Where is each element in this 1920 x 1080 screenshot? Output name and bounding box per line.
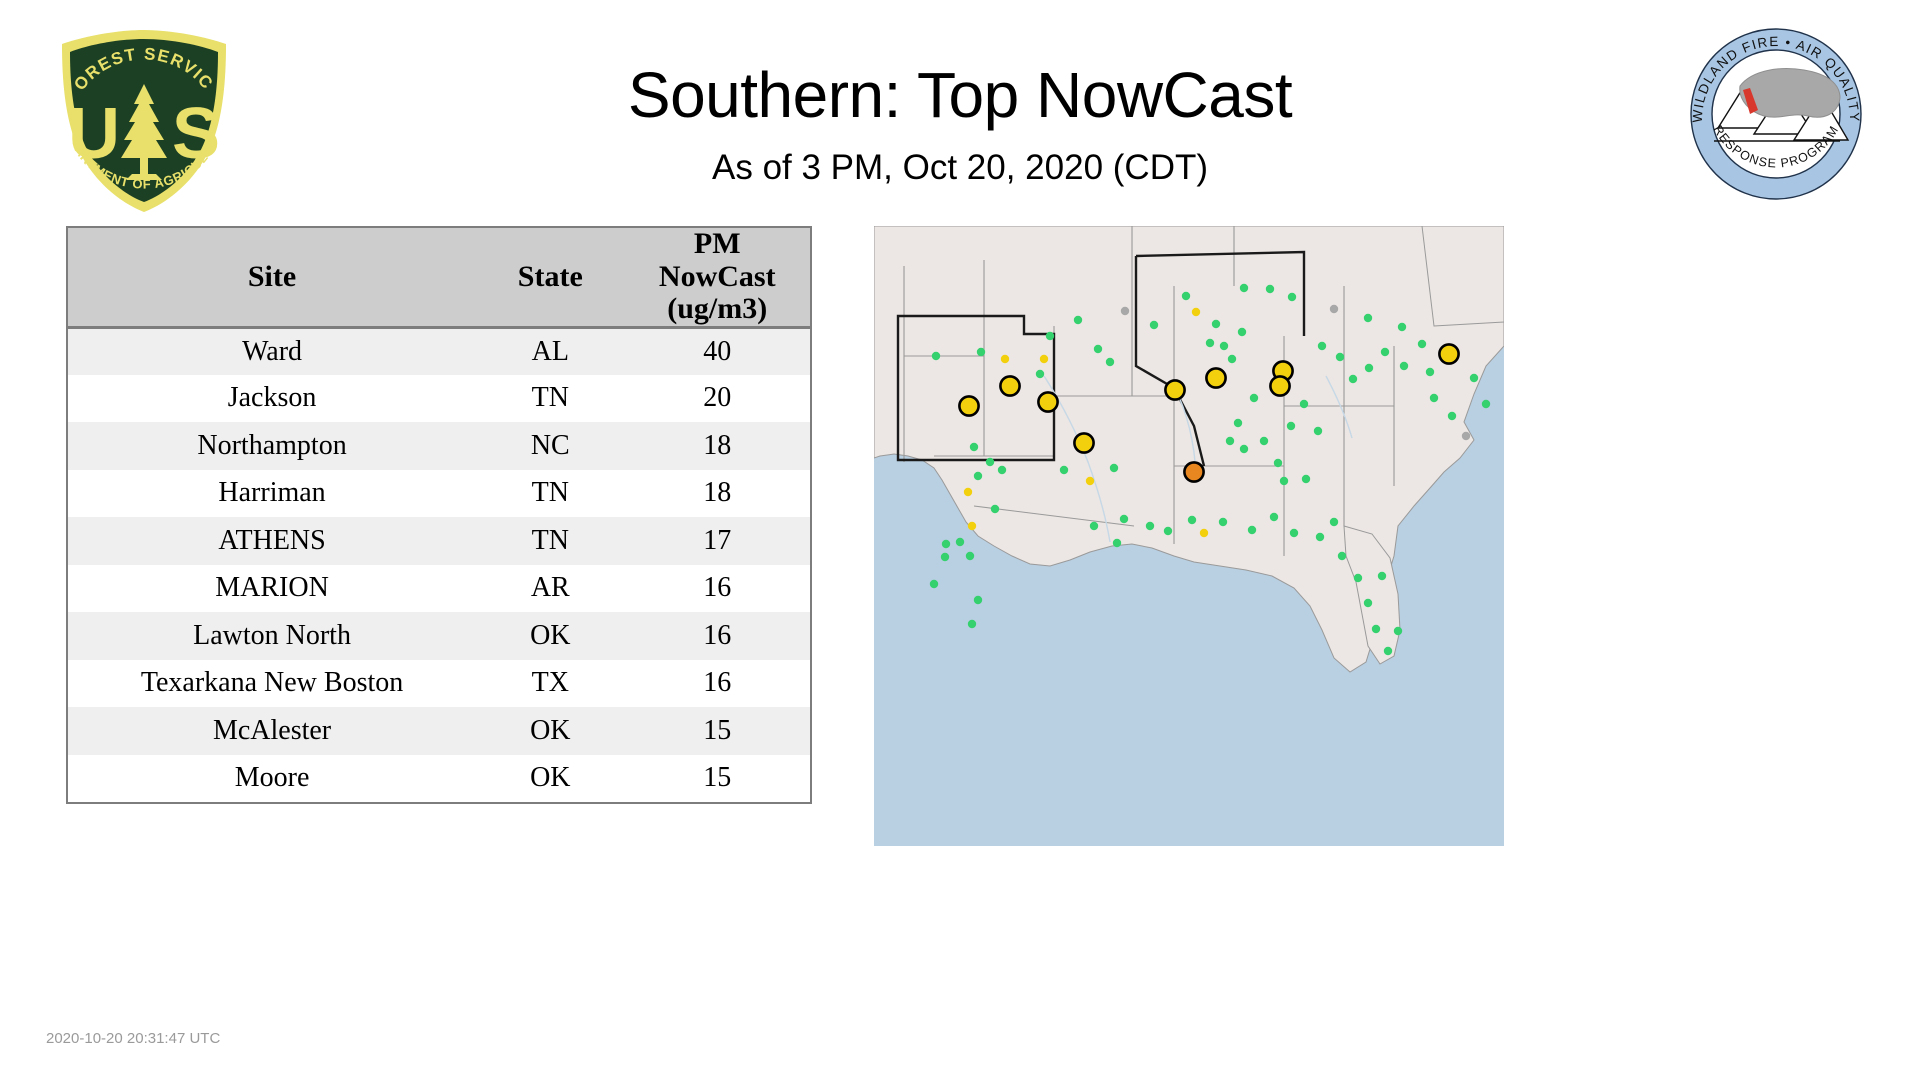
monitor-marker-small[interactable]: [968, 522, 976, 530]
column-header-pm-line1: PM: [624, 228, 810, 260]
monitor-marker-small[interactable]: [1248, 526, 1256, 534]
monitor-marker-small[interactable]: [1300, 400, 1308, 408]
monitor-marker-small[interactable]: [1430, 394, 1438, 402]
monitor-marker-top-site[interactable]: [1206, 368, 1225, 387]
monitor-marker-small[interactable]: [1086, 477, 1094, 485]
monitor-marker-small[interactable]: [1384, 647, 1392, 655]
monitor-marker-small[interactable]: [1364, 599, 1372, 607]
monitor-marker-small[interactable]: [1336, 353, 1344, 361]
monitor-marker-small[interactable]: [1212, 320, 1220, 328]
monitor-marker-small[interactable]: [970, 443, 978, 451]
monitor-marker-small[interactable]: [1182, 292, 1190, 300]
monitor-marker-small[interactable]: [1094, 345, 1102, 353]
monitor-marker-small[interactable]: [1418, 340, 1426, 348]
cell-site: Texarkana New Boston: [68, 660, 476, 708]
monitor-marker-small[interactable]: [1219, 518, 1227, 526]
monitor-marker-small[interactable]: [956, 538, 964, 546]
monitor-marker-top-site[interactable]: [959, 396, 978, 415]
monitor-marker-small[interactable]: [1378, 572, 1386, 580]
southern-region-air-quality-map[interactable]: Air Quality Index HazardousVery Unhealth…: [874, 226, 1504, 846]
monitor-marker-small[interactable]: [1150, 321, 1158, 329]
page-title: Southern: Top NowCast: [0, 58, 1920, 132]
monitor-marker-small[interactable]: [1226, 437, 1234, 445]
top-nowcast-table: Site State PM NowCast (ug/m3) WardAL40Ja…: [66, 226, 812, 804]
cell-pm-nowcast: 18: [624, 422, 810, 470]
cell-pm-nowcast: 20: [624, 375, 810, 423]
monitor-marker-small[interactable]: [1381, 348, 1389, 356]
monitor-marker-small[interactable]: [1192, 308, 1200, 316]
monitor-marker-small[interactable]: [968, 620, 976, 628]
table-row[interactable]: HarrimanTN18: [68, 470, 810, 518]
cell-pm-nowcast: 16: [624, 612, 810, 660]
monitor-marker-small[interactable]: [1060, 466, 1068, 474]
monitor-marker-small[interactable]: [1394, 627, 1402, 635]
column-header-pm-line2: NowCast: [624, 261, 810, 293]
monitor-marker-small[interactable]: [991, 505, 999, 513]
monitor-marker-small[interactable]: [1266, 285, 1274, 293]
cell-pm-nowcast: 15: [624, 755, 810, 803]
column-header-pm-nowcast[interactable]: PM NowCast (ug/m3): [624, 228, 810, 327]
table-body: WardAL40JacksonTN20NorthamptonNC18Harrim…: [68, 327, 810, 802]
table-row[interactable]: MooreOK15: [68, 755, 810, 803]
column-header-pm-line3: (ug/m3): [624, 293, 810, 325]
monitor-marker-small[interactable]: [1330, 305, 1338, 313]
monitor-marker-small[interactable]: [1338, 552, 1346, 560]
monitor-marker-small[interactable]: [1316, 533, 1324, 541]
monitor-marker-small[interactable]: [1106, 358, 1114, 366]
monitor-marker-small[interactable]: [930, 580, 938, 588]
monitor-marker-small[interactable]: [1365, 364, 1373, 372]
monitor-marker-small[interactable]: [1287, 422, 1295, 430]
monitor-marker-small[interactable]: [1146, 522, 1154, 530]
monitor-marker-small[interactable]: [1121, 307, 1129, 315]
monitor-marker-small[interactable]: [1120, 515, 1128, 523]
page-subtitle: As of 3 PM, Oct 20, 2020 (CDT): [0, 148, 1920, 188]
table-row[interactable]: ATHENSTN17: [68, 517, 810, 565]
monitor-marker-small[interactable]: [1040, 355, 1048, 363]
monitor-marker-small[interactable]: [1200, 529, 1208, 537]
monitor-marker-top-site[interactable]: [1165, 380, 1184, 399]
table-row[interactable]: MARIONAR16: [68, 565, 810, 613]
cell-site: Northampton: [68, 422, 476, 470]
monitor-marker-small[interactable]: [1288, 293, 1296, 301]
monitor-marker-small[interactable]: [1046, 332, 1054, 340]
cell-pm-nowcast: 15: [624, 707, 810, 755]
cell-site: McAlester: [68, 707, 476, 755]
monitor-marker-small[interactable]: [942, 540, 950, 548]
cell-state: OK: [476, 612, 624, 660]
cell-site: Moore: [68, 755, 476, 803]
monitor-marker-small[interactable]: [1206, 339, 1214, 347]
table-row[interactable]: Texarkana New BostonTX16: [68, 660, 810, 708]
monitor-marker-small[interactable]: [1426, 368, 1434, 376]
monitor-marker-small[interactable]: [1001, 355, 1009, 363]
table-row[interactable]: JacksonTN20: [68, 375, 810, 423]
cell-state: NC: [476, 422, 624, 470]
monitor-marker-small[interactable]: [941, 553, 949, 561]
table-row[interactable]: WardAL40: [68, 327, 810, 375]
table-row[interactable]: Lawton NorthOK16: [68, 612, 810, 660]
monitor-marker-small[interactable]: [1274, 459, 1282, 467]
monitor-marker-small[interactable]: [977, 348, 985, 356]
monitor-marker-small[interactable]: [1074, 316, 1082, 324]
monitor-marker-small[interactable]: [1482, 400, 1490, 408]
cell-state: TN: [476, 375, 624, 423]
monitor-marker-top-site[interactable]: [1439, 344, 1458, 363]
monitor-marker-small[interactable]: [1110, 464, 1118, 472]
monitor-marker-small[interactable]: [1400, 362, 1408, 370]
monitor-marker-small[interactable]: [1036, 370, 1044, 378]
monitor-marker-small[interactable]: [1354, 574, 1362, 582]
cell-site: Ward: [68, 327, 476, 375]
monitor-marker-small[interactable]: [1364, 314, 1372, 322]
column-header-site[interactable]: Site: [68, 228, 476, 327]
cell-pm-nowcast: 40: [624, 327, 810, 375]
cell-pm-nowcast: 18: [624, 470, 810, 518]
monitor-marker-small[interactable]: [974, 472, 982, 480]
monitor-marker-small[interactable]: [1228, 355, 1236, 363]
monitor-marker-small[interactable]: [1260, 437, 1268, 445]
monitor-marker-top-site[interactable]: [1270, 376, 1289, 395]
monitor-marker-small[interactable]: [1318, 342, 1326, 350]
monitor-marker-small[interactable]: [1462, 432, 1470, 440]
header: FOREST SERVICE U S DEPARTMENT OF AGRICUL…: [0, 0, 1920, 225]
cell-site: MARION: [68, 565, 476, 613]
monitor-marker-small[interactable]: [1234, 419, 1242, 427]
cell-site: Lawton North: [68, 612, 476, 660]
monitor-marker-small[interactable]: [932, 352, 940, 360]
monitor-marker-small[interactable]: [964, 488, 972, 496]
monitor-marker-small[interactable]: [986, 458, 994, 466]
monitor-marker-small[interactable]: [1372, 625, 1380, 633]
monitor-marker-small[interactable]: [1270, 513, 1278, 521]
table-row[interactable]: NorthamptonNC18: [68, 422, 810, 470]
monitor-marker-small[interactable]: [1090, 522, 1098, 530]
cell-site: ATHENS: [68, 517, 476, 565]
table-header-row: Site State PM NowCast (ug/m3): [68, 228, 810, 327]
column-header-state[interactable]: State: [476, 228, 624, 327]
monitor-marker-small[interactable]: [1220, 342, 1228, 350]
map-atlantic-coast: [1422, 226, 1504, 326]
table-row[interactable]: McAlesterOK15: [68, 707, 810, 755]
cell-state: OK: [476, 755, 624, 803]
cell-pm-nowcast: 16: [624, 565, 810, 613]
monitor-marker-small[interactable]: [1398, 323, 1406, 331]
wildland-fire-air-quality-logo: WILDLAND FIRE • AIR QUALITY RESPONSE PRO…: [1688, 28, 1864, 200]
cell-state: TN: [476, 470, 624, 518]
monitor-marker-small[interactable]: [1240, 445, 1248, 453]
monitor-marker-small[interactable]: [1314, 427, 1322, 435]
monitor-marker-small[interactable]: [1250, 394, 1258, 402]
monitor-marker-top-site[interactable]: [1184, 462, 1203, 481]
monitor-marker-small[interactable]: [1280, 477, 1288, 485]
table-header: Site State PM NowCast (ug/m3): [68, 228, 810, 327]
monitor-marker-small[interactable]: [1470, 374, 1478, 382]
monitor-marker-small[interactable]: [1188, 516, 1196, 524]
footer-timestamp: 2020-10-20 20:31:47 UTC: [46, 1030, 220, 1047]
monitor-marker-small[interactable]: [1349, 375, 1357, 383]
monitor-marker-small[interactable]: [998, 466, 1006, 474]
cell-site: Harriman: [68, 470, 476, 518]
monitor-marker-top-site[interactable]: [1038, 392, 1057, 411]
monitor-marker-small[interactable]: [1290, 529, 1298, 537]
cell-state: AR: [476, 565, 624, 613]
cell-pm-nowcast: 16: [624, 660, 810, 708]
monitor-marker-small[interactable]: [1113, 539, 1121, 547]
cell-pm-nowcast: 17: [624, 517, 810, 565]
cell-site: Jackson: [68, 375, 476, 423]
monitor-marker-small[interactable]: [1164, 527, 1172, 535]
cell-state: OK: [476, 707, 624, 755]
monitor-marker-small[interactable]: [1330, 518, 1338, 526]
monitor-marker-small[interactable]: [1238, 328, 1246, 336]
monitor-marker-small[interactable]: [1302, 475, 1310, 483]
cell-state: TX: [476, 660, 624, 708]
monitor-marker-small[interactable]: [1240, 284, 1248, 292]
monitor-marker-small[interactable]: [966, 552, 974, 560]
monitor-marker-small[interactable]: [1448, 412, 1456, 420]
monitor-marker-top-site[interactable]: [1000, 376, 1019, 395]
monitor-marker-small[interactable]: [974, 596, 982, 604]
cell-state: TN: [476, 517, 624, 565]
map-canvas: [874, 226, 1504, 846]
monitor-marker-top-site[interactable]: [1074, 433, 1093, 452]
cell-state: AL: [476, 327, 624, 375]
